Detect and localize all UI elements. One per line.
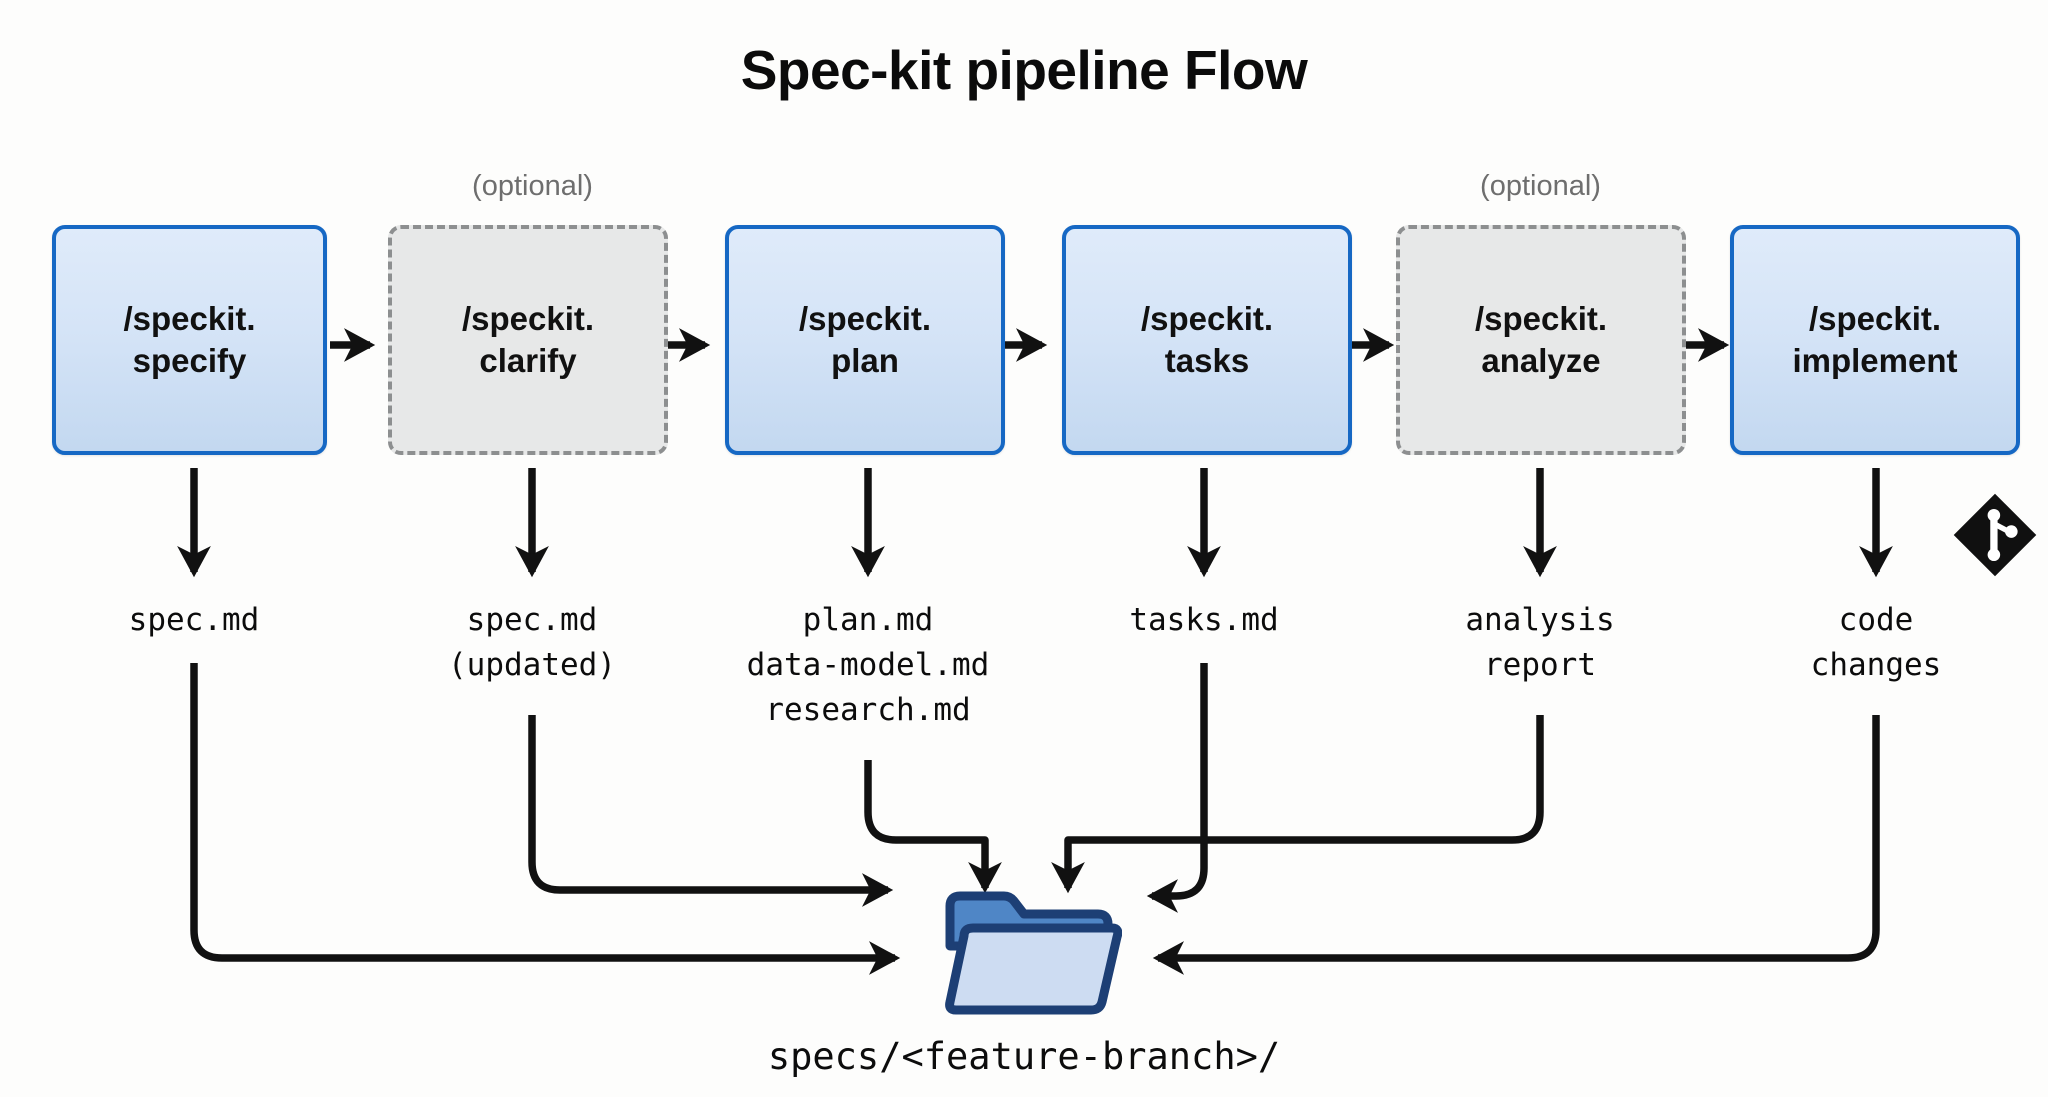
stage-box-analyze[interactable]: /speckit. analyze <box>1396 225 1686 455</box>
optional-caption-analyze: (optional) <box>1398 170 1683 203</box>
folder-icon <box>942 890 1122 1018</box>
stage-output-arrow <box>194 468 1876 572</box>
output-label-analyze: analysis report <box>1390 598 1690 688</box>
stage-box-implement[interactable]: /speckit. implement <box>1730 225 2020 455</box>
collector-path-implement <box>1158 715 1876 958</box>
output-label-clarify: spec.md (updated) <box>382 598 682 688</box>
collector-path-plan <box>868 760 985 888</box>
collector-path-tasks <box>1152 663 1204 896</box>
stage-box-specify[interactable]: /speckit. specify <box>52 225 327 455</box>
stage-box-clarify[interactable]: /speckit. clarify <box>388 225 668 455</box>
optional-caption-clarify: (optional) <box>390 170 675 203</box>
output-label-plan: plan.md data-model.md research.md <box>700 598 1036 733</box>
collector-path-clarify <box>532 715 888 890</box>
output-label-implement: code changes <box>1726 598 2026 688</box>
collector-path-analyze <box>1068 715 1540 888</box>
stage-box-tasks[interactable]: /speckit. tasks <box>1062 225 1352 455</box>
page-title: Spec-kit pipeline Flow <box>0 38 2048 102</box>
diagram-canvas: Spec-kit pipeline Flow <box>0 0 2048 1097</box>
output-label-tasks: tasks.md <box>1054 598 1354 643</box>
output-label-specify: spec.md <box>44 598 344 643</box>
git-icon <box>1952 492 2038 578</box>
destination-caption: specs/<feature-branch>/ <box>0 1035 2048 1078</box>
stage-box-plan[interactable]: /speckit. plan <box>725 225 1005 455</box>
